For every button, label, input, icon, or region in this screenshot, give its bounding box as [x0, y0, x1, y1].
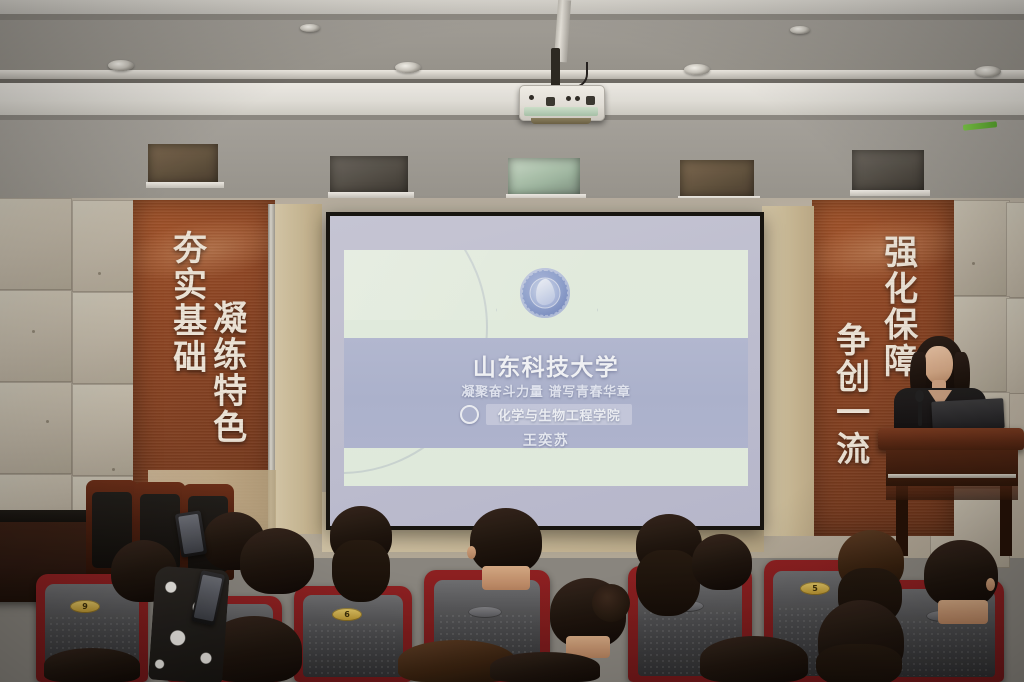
slide-subtitle: 凝聚奋斗力量 谱写青春华章	[344, 381, 748, 400]
seat-number-plate: 6	[332, 608, 362, 621]
projector-body	[519, 85, 605, 121]
auditorium-photo: 夯实基础 凝练特色 强化保障 争创一流 山东科技大学 凝聚奋斗力量 谱写青春华章	[0, 0, 1024, 682]
projection-screen: 山东科技大学 凝聚奋斗力量 谱写青春华章 化学与生物工程学院 王奕苏	[326, 212, 764, 530]
slide-speaker-name: 王奕苏	[344, 430, 748, 450]
downlight-icon	[300, 24, 320, 32]
ceiling-recess-panel	[330, 156, 408, 194]
seat-grab-handle	[468, 606, 502, 618]
slide-department: 化学与生物工程学院	[486, 404, 633, 425]
wall-column-left	[275, 204, 322, 534]
projector-foot	[531, 118, 591, 124]
audience-head	[470, 508, 542, 574]
audience-head	[550, 578, 626, 648]
left-banner-column-1: 夯实基础	[169, 230, 204, 376]
downlight-icon	[975, 66, 1001, 77]
seat-number-plate: 9	[70, 600, 100, 613]
wall-stone-panel	[0, 198, 72, 290]
laptop[interactable]	[931, 398, 1004, 432]
audience-head	[818, 600, 904, 682]
presentation-slide: 山东科技大学 凝聚奋斗力量 谱写青春华章 化学与生物工程学院 王奕苏	[344, 250, 748, 486]
ceiling-plane-upper	[0, 20, 1024, 72]
wall-stone-panel	[1006, 202, 1024, 298]
ceiling-recess-panel	[680, 160, 754, 198]
podium-body	[886, 450, 1018, 486]
downlight-icon	[395, 62, 421, 73]
slide-department-row: 化学与生物工程学院	[344, 404, 748, 425]
audience-head	[838, 530, 904, 592]
right-banner-column-2: 争创一流	[832, 322, 867, 468]
audience-head	[490, 652, 600, 682]
slide-title: 山东科技大学	[344, 348, 748, 382]
projector-lens-band	[524, 107, 598, 116]
microphone-icon	[915, 390, 924, 402]
audience-head	[700, 636, 808, 682]
ceiling-beam-main	[0, 83, 1024, 115]
ceiling-rail	[0, 70, 1024, 79]
ceiling-recess-panel	[852, 150, 924, 192]
downlight-icon	[790, 26, 810, 34]
podium-top	[878, 428, 1024, 450]
audience-head	[692, 534, 752, 590]
wall-column-right	[762, 206, 814, 536]
audience-head	[330, 506, 392, 564]
wall-stone-panel	[1006, 298, 1024, 394]
left-banner-column-2: 凝练特色	[209, 300, 244, 446]
wall-stone-panel	[0, 290, 72, 382]
audience-head	[924, 540, 998, 608]
ceiling-recess-panel	[148, 144, 218, 184]
podium-shelf	[886, 486, 1018, 500]
audience-head	[44, 648, 140, 682]
downlight-icon	[108, 60, 134, 71]
downlight-icon	[684, 64, 710, 75]
circle-bullet-icon	[460, 405, 479, 424]
audience-head	[240, 528, 314, 594]
ceiling-beam-top	[0, 0, 1024, 14]
university-emblem-icon	[520, 268, 570, 318]
podium-trim-stripe	[888, 474, 1016, 478]
seat-number-plate: 5	[800, 582, 830, 595]
ceiling-recess-panel	[508, 158, 580, 196]
wall-stone-panel	[0, 382, 72, 474]
